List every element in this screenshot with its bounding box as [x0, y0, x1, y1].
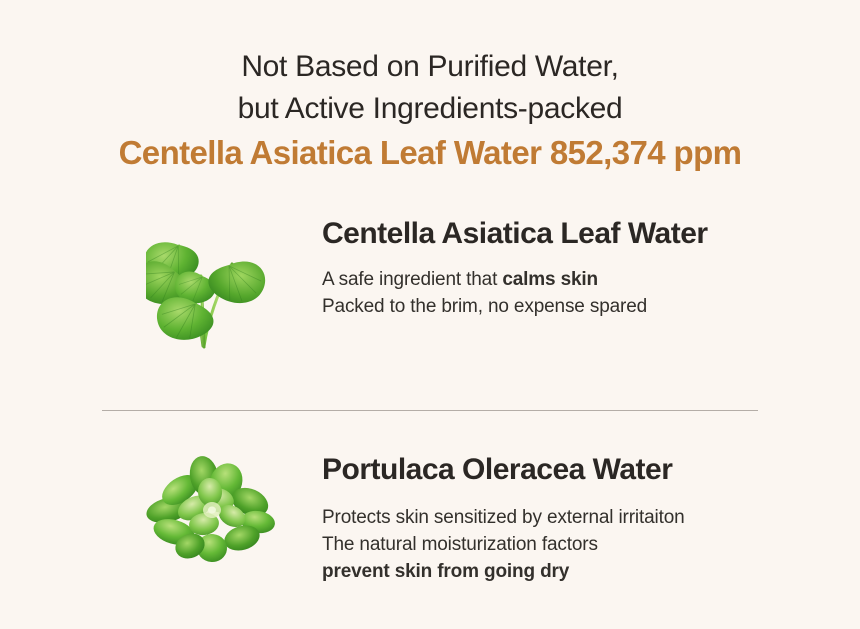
- section-description-centella: A safe ingredient that calms skin Packed…: [322, 266, 860, 320]
- section-title-portulaca: Portulaca Oleracea Water: [322, 452, 860, 488]
- description-line: The natural moisturization factors: [322, 531, 860, 558]
- section-divider: [102, 410, 758, 411]
- description-line: Protects skin sensitized by external irr…: [322, 504, 860, 531]
- ingredient-section-centella: Centella Asiatica Leaf Water A safe ingr…: [0, 216, 860, 356]
- centella-leaves-illustration: [146, 216, 316, 356]
- section-title-centella: Centella Asiatica Leaf Water: [322, 216, 860, 252]
- portulaca-text-block: Portulaca Oleracea Water Protects skin s…: [316, 452, 860, 585]
- description-line: Packed to the brim, no expense spared: [322, 293, 860, 320]
- headline-line-3-highlight: Centella Asiatica Leaf Water 852,374 ppm: [0, 130, 860, 175]
- description-line: prevent skin from going dry: [322, 558, 860, 585]
- description-line: A safe ingredient that calms skin: [322, 266, 860, 293]
- headline-block: Not Based on Purified Water, but Active …: [0, 46, 860, 175]
- portulaca-leaves-illustration: [146, 452, 316, 572]
- headline-line-2: but Active Ingredients-packed: [0, 88, 860, 130]
- section-description-portulaca: Protects skin sensitized by external irr…: [322, 504, 860, 585]
- headline-line-1: Not Based on Purified Water,: [0, 46, 860, 88]
- centella-text-block: Centella Asiatica Leaf Water A safe ingr…: [316, 216, 860, 320]
- ingredient-section-portulaca: Portulaca Oleracea Water Protects skin s…: [0, 452, 860, 585]
